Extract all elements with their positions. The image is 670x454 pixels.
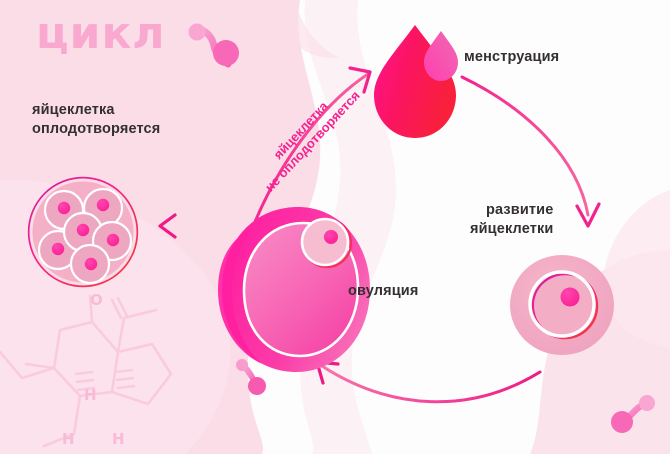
egg-cell-icon [510,255,614,355]
label-menstruation: менструация [464,48,559,67]
sperm-icon-center [236,359,266,395]
arrow-development-to-ovulation [317,362,540,402]
molecule-atom-H3: H [112,430,125,448]
sperm-icon-bottom-right [611,395,655,433]
morula-cells-icon [29,178,137,286]
blood-drop-icon [374,25,458,138]
bg-blob-left [0,0,320,454]
molecule-atom-O: O [90,291,103,309]
label-fertilized-egg: яйцеклетка оплодотворяется [32,101,160,139]
progesterone-molecule-icon: O H H H [0,0,670,454]
arrow-ovulation-to-fertilized [160,215,232,237]
label-ovulation: овуляция [348,282,418,301]
background-shapes [0,0,670,454]
bg-blob-top [285,0,340,58]
bg-blob-right-upper [604,190,670,348]
label-not-fertilized: яйцеклетка не оплодотворяется [244,70,370,202]
cycle-infographic: O H H H [0,0,670,454]
bg-blob-lower-left [0,180,230,454]
page-title: ЦИКЛ [36,12,166,56]
cycle-arrows [0,0,670,454]
cycle-illustrations [0,0,670,454]
molecule-atom-H2: H [62,430,75,448]
molecule-atom-H1: H [84,386,97,404]
label-egg-development: развитие яйцеклетки [470,201,553,239]
bg-wave-center [300,0,396,454]
bg-blob-right [530,250,670,454]
sperm-icon-top [189,24,240,67]
